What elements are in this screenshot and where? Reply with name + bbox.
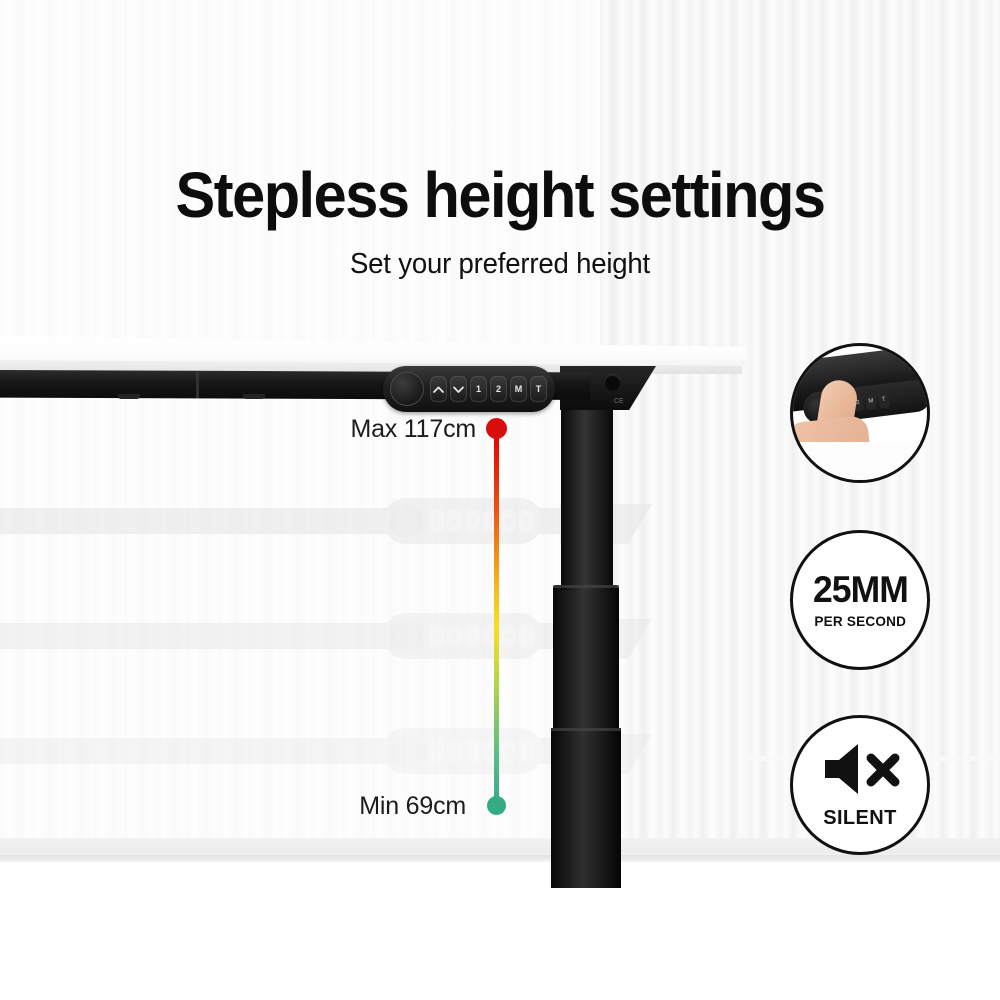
bracket-hole-icon xyxy=(604,374,621,391)
control-knob[interactable] xyxy=(390,372,424,406)
badge-speed-content: 25MM PER SECOND xyxy=(793,533,927,667)
ghost-key-up: ^ xyxy=(429,625,444,647)
badge-silent-content: SILENT xyxy=(793,718,927,852)
product-feature-banner: Stepless height settings Set your prefer… xyxy=(0,0,1000,1000)
ghost-key-m: M xyxy=(501,510,516,532)
ghost-knob xyxy=(389,504,423,538)
silent-label: SILENT xyxy=(823,807,897,830)
ghost-control-panel: ^ v 1 2 M T xyxy=(383,498,543,544)
ghost-key-t: T xyxy=(519,625,534,647)
max-height-label: Max 117cm xyxy=(236,415,476,444)
min-height-dot xyxy=(487,796,506,815)
ghost-knob xyxy=(389,734,423,768)
desk-leg-lower-section xyxy=(551,728,621,888)
photo-key-m: M xyxy=(865,393,877,409)
desk-frame-seam xyxy=(196,372,199,398)
bottom-whitespace xyxy=(0,862,1000,1000)
photo-background xyxy=(793,442,930,483)
ghost-keys: ^ v 1 2 M T xyxy=(429,510,534,532)
height-control-panel[interactable]: 1 2 M T xyxy=(383,366,555,412)
ghost-keys: ^ v 1 2 M T xyxy=(429,625,534,647)
ghost-keys: ^ v 1 2 M T xyxy=(429,740,534,762)
ghost-control-panel: ^ v 1 2 M T xyxy=(383,613,543,659)
photo-key-t: T xyxy=(878,392,890,408)
speaker-mute-icon xyxy=(819,741,901,802)
preset-2-button[interactable]: 2 xyxy=(490,376,507,402)
ghost-control-panel: ^ v 1 2 M T xyxy=(383,728,543,774)
ghost-key-t: T xyxy=(519,740,534,762)
desk-leg-seam-upper xyxy=(553,585,619,588)
ghost-key-t: T xyxy=(519,510,534,532)
min-height-label: Min 69cm xyxy=(226,792,466,821)
memory-button[interactable]: M xyxy=(510,376,527,402)
badge-speed: 25MM PER SECOND xyxy=(790,530,930,670)
window-mullion xyxy=(742,0,747,850)
badge-silent: SILENT xyxy=(790,715,930,855)
bracket-marking: CE xyxy=(614,398,624,405)
ghost-key-1: 1 xyxy=(465,625,480,647)
badge-finger-press-photo: 1 2 M T xyxy=(790,343,930,483)
speed-unit: PER SECOND xyxy=(814,613,906,629)
ghost-key-m: M xyxy=(501,740,516,762)
desk-frame-tab-left xyxy=(118,394,140,399)
desk-leg-seam-lower xyxy=(551,728,621,731)
page-subtitle: Set your preferred height xyxy=(25,248,975,281)
height-range-gradient-line xyxy=(494,430,499,806)
ghost-key-down: v xyxy=(447,510,462,532)
ghost-key-down: v xyxy=(447,740,462,762)
speed-value: 25MM xyxy=(813,571,908,608)
ghost-key-m: M xyxy=(501,625,516,647)
preset-1-button[interactable]: 1 xyxy=(470,376,487,402)
ghost-key-down: v xyxy=(447,625,462,647)
ghost-key-1: 1 xyxy=(465,740,480,762)
max-height-dot xyxy=(486,418,507,439)
desk-leg-upper-section xyxy=(561,404,613,590)
timer-button[interactable]: T xyxy=(530,376,547,402)
ghost-knob xyxy=(389,619,423,653)
page-title: Stepless height settings xyxy=(35,158,965,232)
ghost-key-1: 1 xyxy=(465,510,480,532)
desk-leg-middle-section xyxy=(553,585,619,735)
desk-frame-tab-right xyxy=(243,394,265,399)
up-chevron-icon[interactable] xyxy=(430,376,447,402)
ghost-key-up: ^ xyxy=(429,740,444,762)
down-chevron-icon[interactable] xyxy=(450,376,467,402)
control-keys: 1 2 M T xyxy=(430,376,547,402)
ghost-key-up: ^ xyxy=(429,510,444,532)
